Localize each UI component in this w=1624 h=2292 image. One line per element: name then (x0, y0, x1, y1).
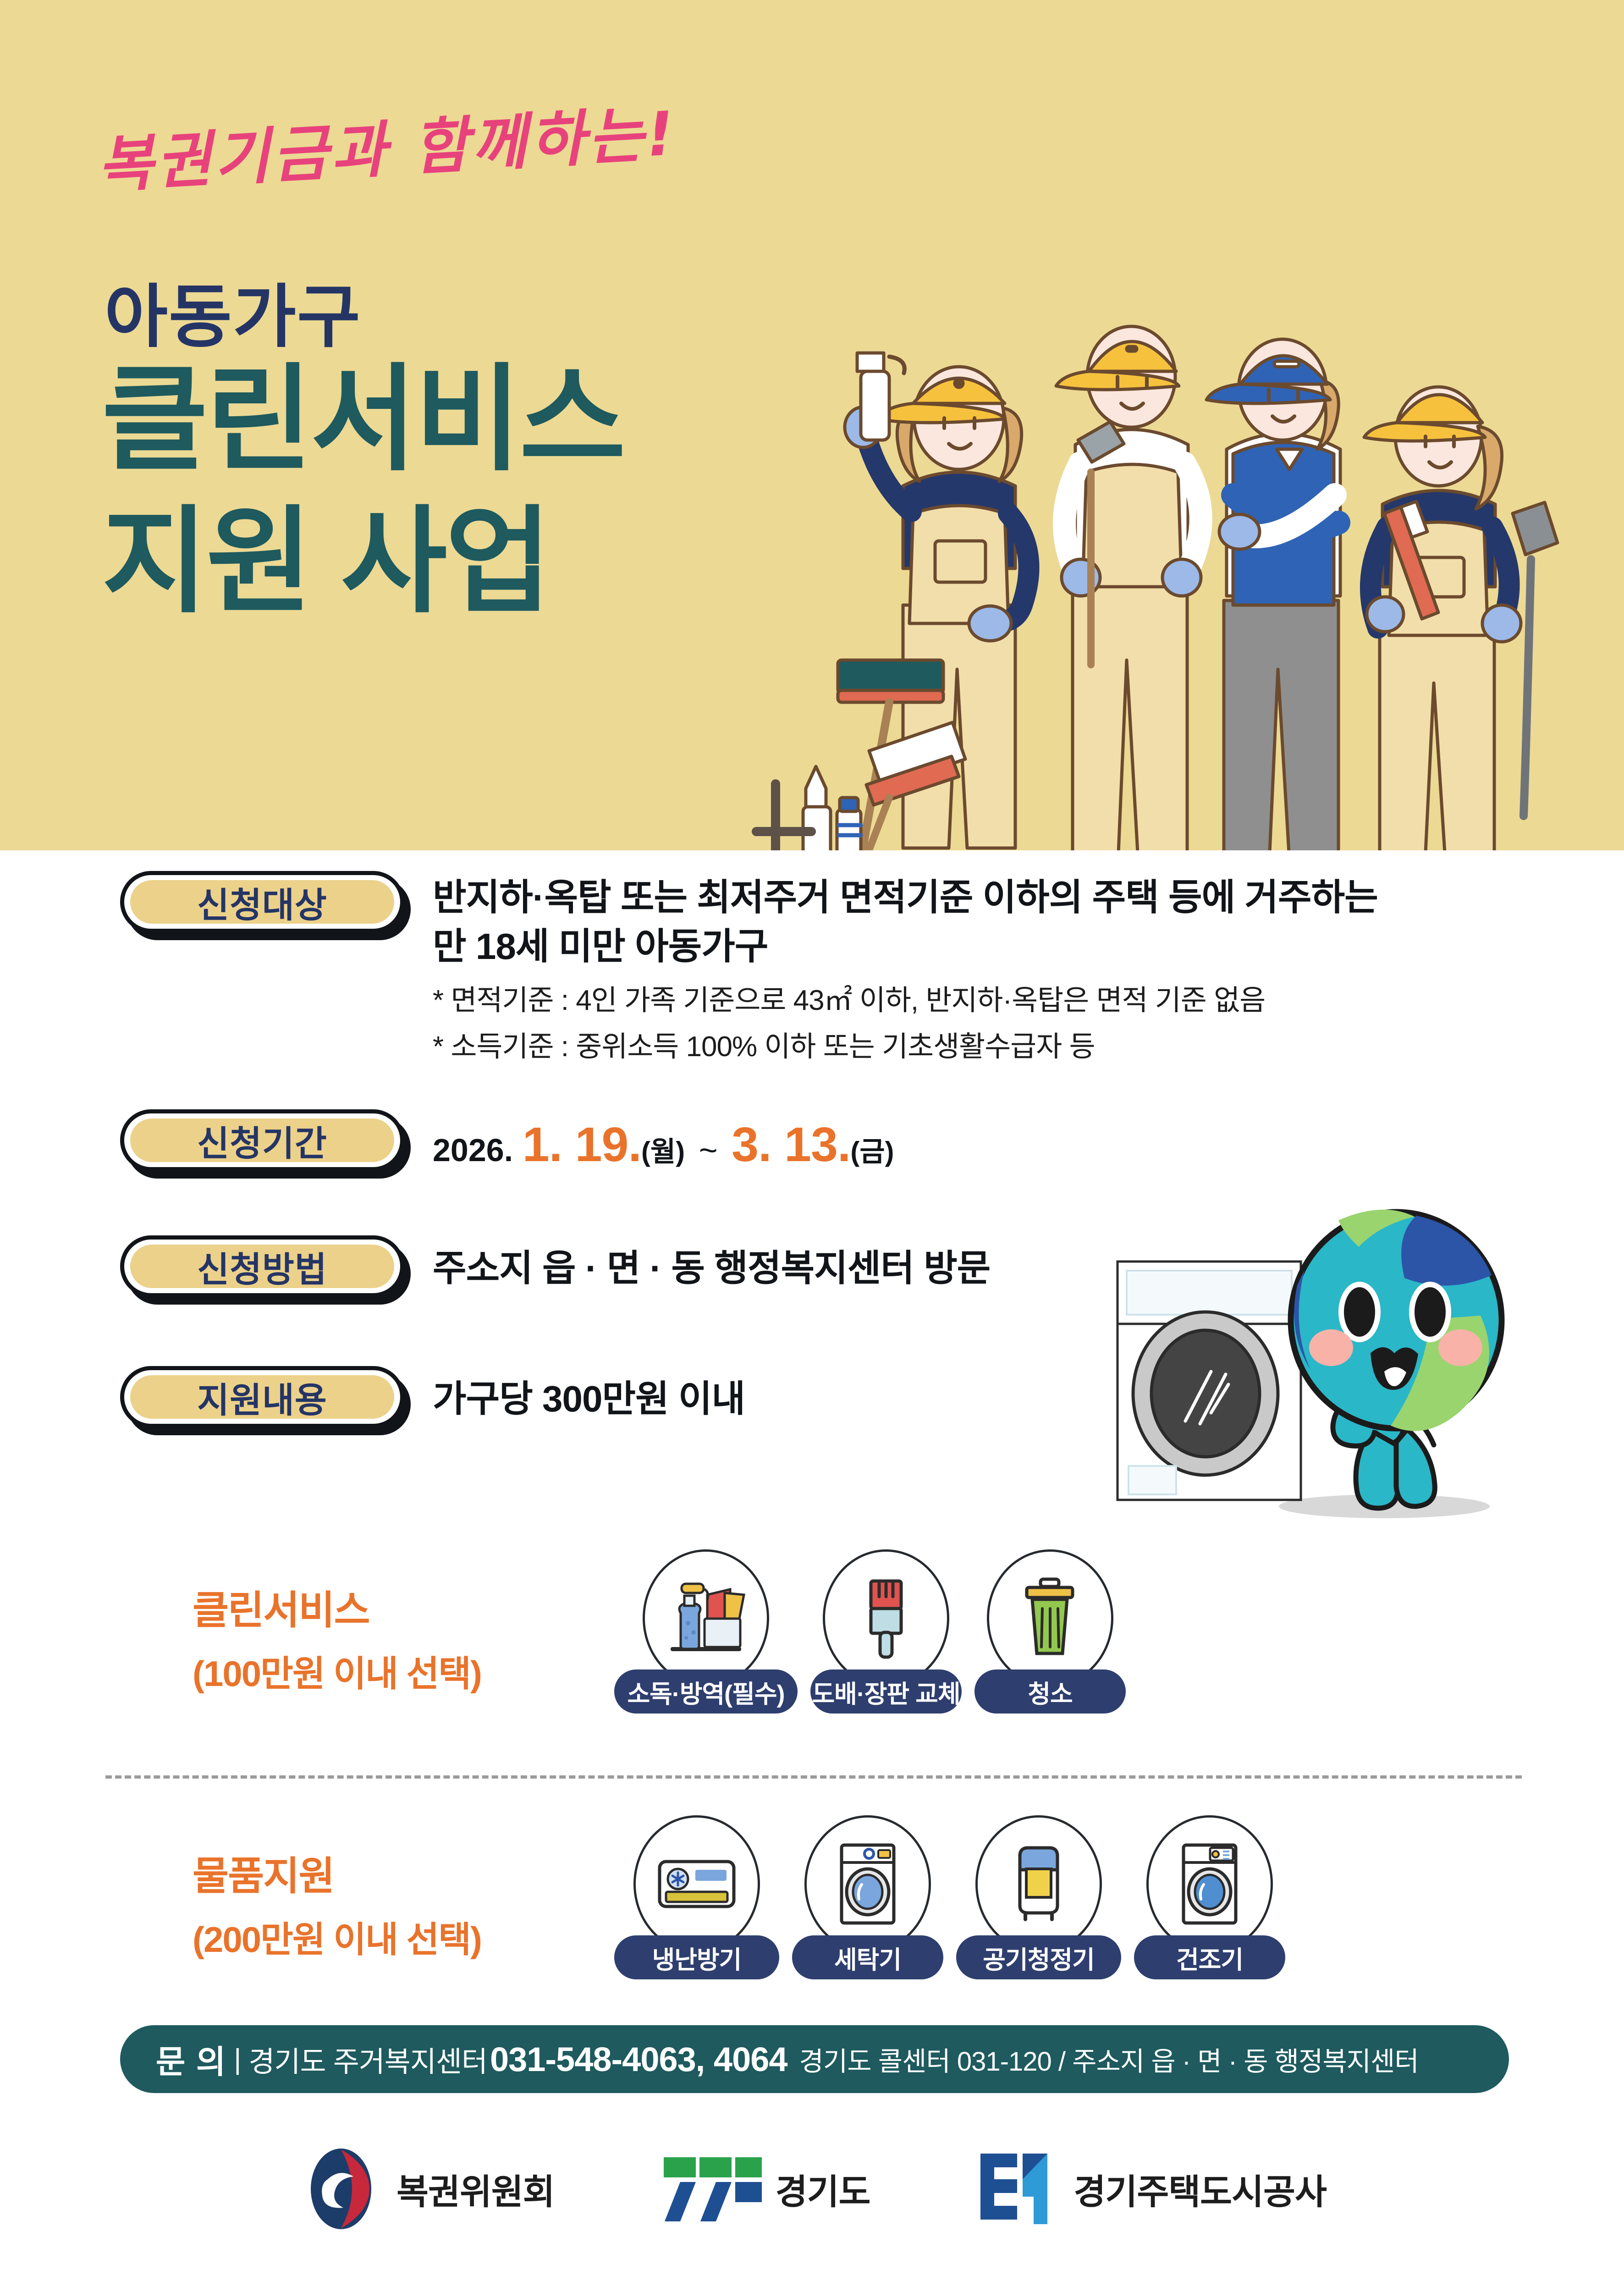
label-pill-support: 지원내용 (120, 1366, 404, 1428)
contact-phone[interactable]: 031-548-4063, 4064 (487, 2040, 790, 2079)
label-text-method: 신청방법 (197, 1241, 327, 1292)
caption-aircon: 냉난방기 (614, 1935, 779, 1979)
trash-bin-icon (1016, 1575, 1085, 1662)
period-end-date: 3. 13. (732, 1118, 850, 1172)
caption-disinfection: 소독·방역(필수) (614, 1669, 798, 1713)
clean-service-items: 소독·방역(필수) 도배·장판 교체 (614, 1549, 1139, 1713)
icon-circle-dryer (1146, 1815, 1273, 1953)
icon-circle-wallpaper (823, 1549, 949, 1687)
period-start-dow: (월) (641, 1136, 685, 1167)
goods-item-aircon[interactable]: 냉난방기 (614, 1815, 779, 1979)
period-tilde: ~ (694, 1132, 722, 1168)
goods-item-purifier[interactable]: 공기청정기 (956, 1815, 1121, 1979)
service-item-cleaning[interactable]: 청소 (974, 1549, 1126, 1713)
eligibility-main-line2: 만 18세 미만 아동가구 (433, 922, 1378, 971)
goods-item-washer[interactable]: 세탁기 (792, 1815, 943, 1979)
mascot-and-washer-illustration (1068, 1192, 1526, 1522)
service-group-goods: 물품지원 (200만원 이내 선택) 냉난방기 (0, 1815, 1624, 2017)
hero-script-line: 복권기금과 함께하는! (95, 85, 679, 204)
eligibility-note-area: * 면적기준 : 4인 가족 기준으로 43㎡ 이하, 반지하·옥탑은 면적 기… (433, 979, 1378, 1022)
label-text-eligibility: 신청대상 (197, 877, 327, 927)
earth-mascot-character (1291, 1210, 1502, 1508)
service-item-wallpaper[interactable]: 도배·장판 교체 (810, 1549, 962, 1713)
logo-lottery-commission: 복권위원회 (297, 2145, 555, 2232)
gyeonggi-province-logo (660, 2150, 765, 2228)
eligibility-main-line1: 반지하·옥탑 또는 최저주거 면적기준 이하의 주택 등에 거주하는 (433, 873, 1378, 922)
label-pill-eligibility: 신청대상 (120, 871, 404, 933)
period-year: 2026. (433, 1132, 513, 1168)
icon-circle-aircon (633, 1815, 760, 1953)
icon-circle-washer (804, 1815, 931, 1953)
caption-cleaning: 청소 (974, 1669, 1126, 1713)
method-main-line: 주소지 읍 · 면 · 동 행정복지센터 방문 (433, 1237, 990, 1293)
label-text-period: 신청기간 (197, 1115, 327, 1166)
hero-title-line2: 지원 사업 (102, 504, 550, 620)
info-body-eligibility: 반지하·옥탑 또는 최저주거 면적기준 이하의 주택 등에 거주하는 만 18세… (433, 871, 1378, 1068)
info-row-method: 신청방법 주소지 읍 · 면 · 동 행정복지센터 방문 (120, 1235, 990, 1297)
label-text-support: 지원내용 (197, 1372, 327, 1422)
lottery-commission-emblem (297, 2145, 385, 2232)
group-goods-limit: (200만원 이내 선택) (193, 1911, 481, 1962)
logo-text-lottery: 복권위원회 (396, 2164, 555, 2214)
section-divider (105, 1775, 1522, 1779)
period-start-date: 1. 19. (523, 1118, 641, 1172)
group-label-clean: 클린서비스 (100만원 이내 선택) (193, 1578, 481, 1697)
contact-separator: | (226, 2043, 248, 2076)
washing-machine-icon (833, 1840, 902, 1928)
spray-bottle-icon (662, 1575, 749, 1662)
logo-text-gyeonggi: 경기도 (776, 2164, 870, 2214)
info-body-method: 주소지 읍 · 면 · 동 행정복지센터 방문 (433, 1235, 990, 1293)
icon-circle-purifier (975, 1815, 1102, 1953)
caption-purifier: 공기청정기 (956, 1935, 1121, 1979)
contact-org: 경기도 주거복지센터 (248, 2039, 487, 2080)
support-main-line: 가구당 300만원 이내 (433, 1368, 745, 1423)
info-body-support: 가구당 300만원 이내 (433, 1366, 745, 1423)
hero-subtitle: 아동가구 (105, 261, 361, 361)
info-body-period: 2026. 1. 19.(월) ~ 3. 13.(금) (433, 1109, 894, 1169)
eligibility-note-income: * 소득기준 : 중위소득 100% 이하 또는 기초생활수급자 등 (433, 1025, 1378, 1068)
goods-item-dryer[interactable]: 건조기 (1134, 1815, 1285, 1979)
logo-row: 복권위원회 경기도 경기주택도시공사 (0, 2132, 1624, 2246)
contact-heading: 문 의 (156, 2036, 226, 2083)
caption-washer: 세탁기 (792, 1935, 943, 1979)
info-row-eligibility: 신청대상 반지하·옥탑 또는 최저주거 면적기준 이하의 주택 등에 거주하는 … (120, 871, 1378, 1068)
group-clean-title: 클린서비스 (193, 1578, 481, 1635)
caption-wallpaper: 도배·장판 교체 (810, 1669, 962, 1713)
group-clean-limit: (100만원 이내 선택) (193, 1645, 481, 1697)
logo-gh-corporation: 경기주택도시공사 (967, 2145, 1327, 2232)
caption-dryer: 건조기 (1134, 1935, 1285, 1979)
label-pill-method: 신청방법 (120, 1235, 404, 1297)
hero-banner: 복권기금과 함께하는! 아동가구 클린서비스 지원 사업 (0, 0, 1624, 850)
icon-circle-disinfection (643, 1549, 769, 1687)
service-group-clean: 클린서비스 (100만원 이내 선택) (0, 1549, 1624, 1751)
info-row-support: 지원내용 가구당 300만원 이내 (120, 1366, 745, 1428)
service-item-disinfection[interactable]: 소독·방역(필수) (614, 1549, 798, 1713)
contact-bar: 문 의 | 경기도 주거복지센터 031-548-4063, 4064 경기도 … (120, 2025, 1509, 2093)
air-conditioner-icon (653, 1850, 740, 1918)
info-row-period: 신청기간 2026. 1. 19.(월) ~ 3. 13.(금) (120, 1109, 894, 1171)
cleaning-crew-illustration (752, 257, 1623, 850)
clothes-dryer-icon (1175, 1840, 1244, 1928)
goods-support-items: 냉난방기 세탁기 (614, 1815, 1298, 1979)
contact-extra: 경기도 콜센터 031-120 / 주소지 읍 · 면 · 동 행정복지센터 (790, 2040, 1419, 2078)
application-period-line: 2026. 1. 19.(월) ~ 3. 13.(금) (433, 1111, 894, 1169)
air-purifier-icon (1004, 1840, 1073, 1928)
label-pill-period: 신청기간 (120, 1109, 404, 1171)
group-label-goods: 물품지원 (200만원 이내 선택) (193, 1844, 481, 1962)
paint-brush-icon (852, 1575, 920, 1662)
logo-text-gh: 경기주택도시공사 (1074, 2164, 1327, 2214)
icon-circle-cleaning (987, 1549, 1113, 1687)
logo-gyeonggi-province: 경기도 (660, 2150, 870, 2228)
washing-machine-graphic (1118, 1262, 1301, 1500)
period-end-dow: (금) (850, 1136, 894, 1167)
poster-root: 복권기금과 함께하는! 아동가구 클린서비스 지원 사업 (0, 0, 1624, 2292)
gh-corporation-logo (967, 2145, 1063, 2232)
group-goods-title: 물품지원 (193, 1844, 481, 1901)
hero-title-line1: 클린서비스 (102, 362, 624, 478)
